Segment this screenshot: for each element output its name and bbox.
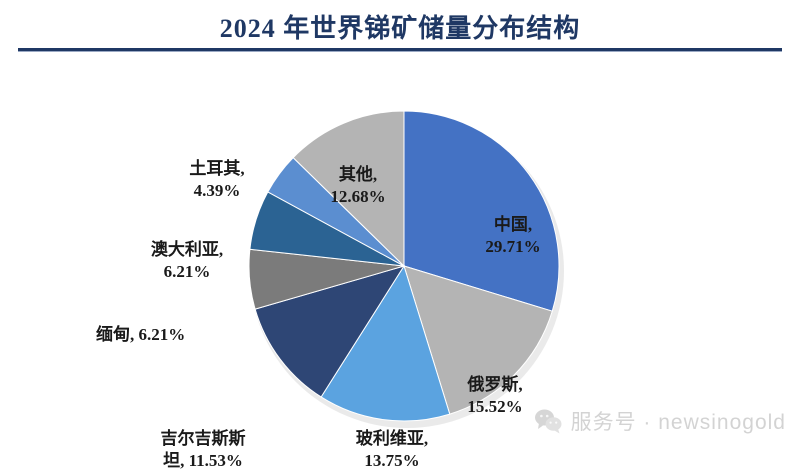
slice-label-australia: 澳大利亚, 6.21% [112, 239, 262, 283]
wechat-icon [533, 408, 563, 434]
page-title: 2024 年世界锑矿储量分布结构 [0, 8, 800, 45]
title-divider-secondary [18, 51, 782, 52]
slice-label-bolivia: 玻利维亚, 13.75% [322, 428, 462, 472]
slice-label-kyrgyzstan: 吉尔吉斯斯 坦, 11.53% [118, 428, 288, 472]
slice-label-china: 中国, 29.71% [448, 214, 578, 258]
watermark-text: 服务号 · newsinogold [571, 406, 786, 436]
title-block: 2024 年世界锑矿储量分布结构 [0, 0, 800, 56]
slice-label-other: 其他, 12.68% [298, 164, 418, 208]
slice-label-myanmar: 缅甸, 6.21% [96, 324, 256, 346]
chart-page: 2024 年世界锑矿储量分布结构 中国, 29.71% 俄罗斯, 15.52% … [0, 0, 800, 446]
pie-chart-area: 中国, 29.71% 俄罗斯, 15.52% 玻利维亚, 13.75% 吉尔吉斯… [0, 56, 800, 446]
slice-label-turkey: 土耳其, 4.39% [152, 158, 282, 202]
watermark: 服务号 · newsinogold [533, 406, 786, 436]
